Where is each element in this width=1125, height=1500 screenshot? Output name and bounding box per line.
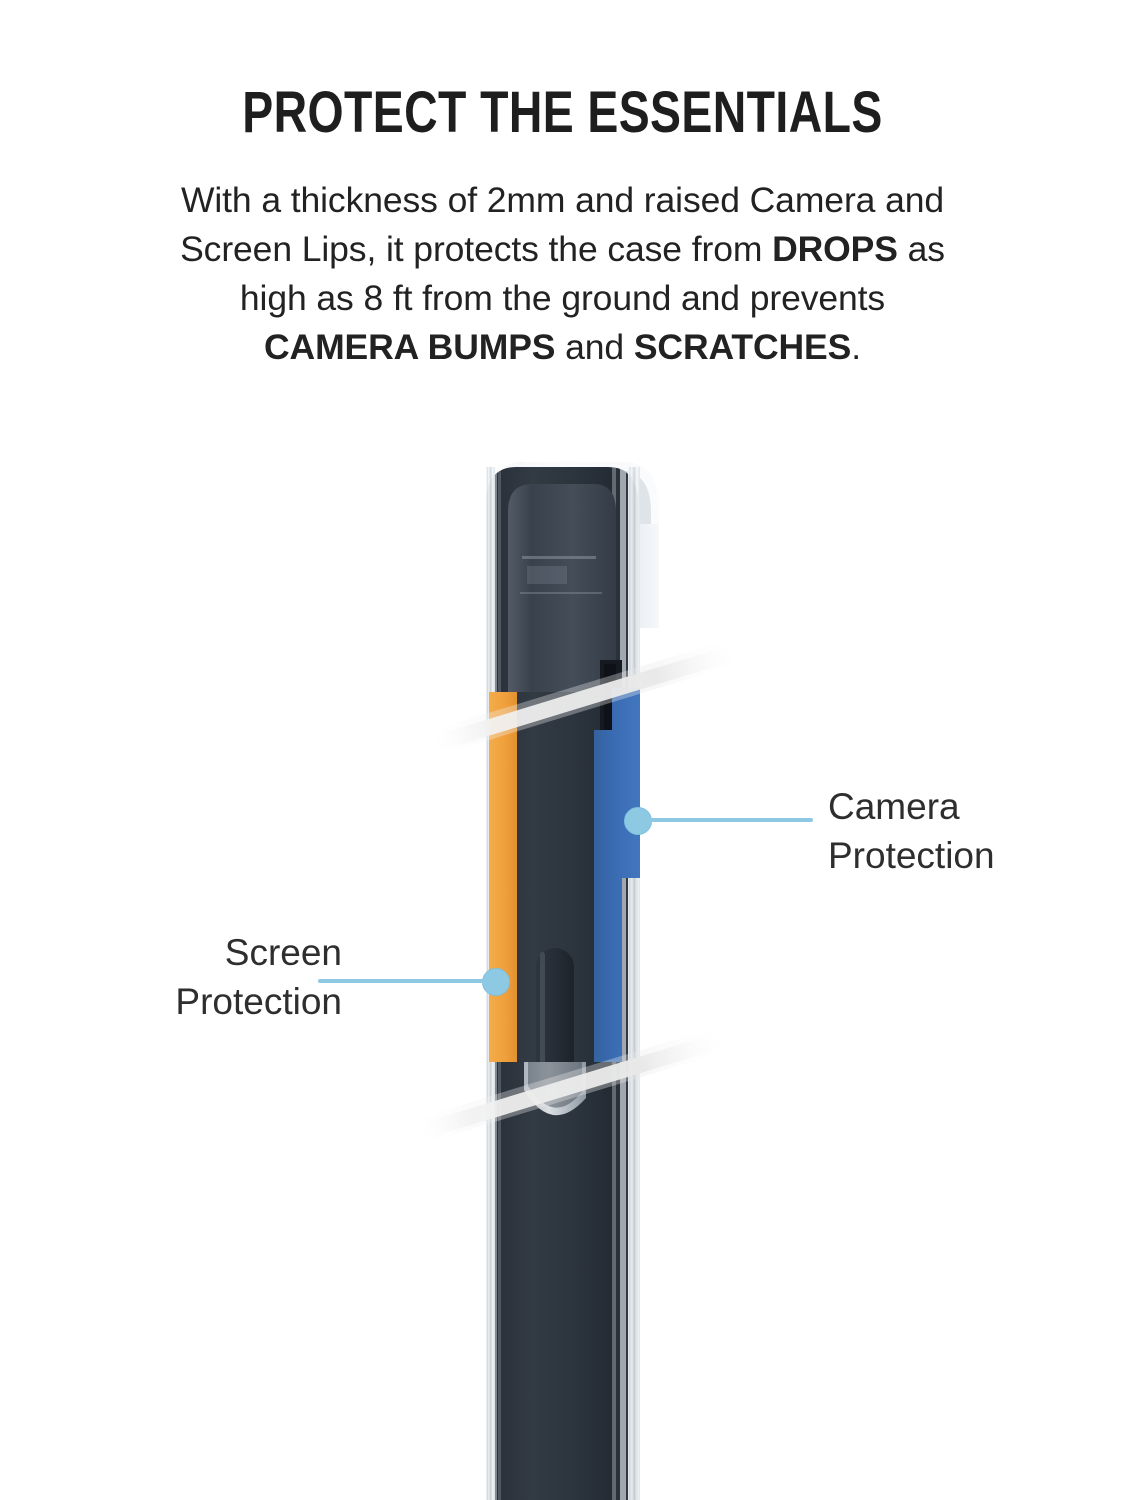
callout-camera-protection: Camera Protection <box>828 782 1088 880</box>
callout-camera-line-1: Camera <box>828 782 1088 831</box>
callout-camera-line-2: Protection <box>828 831 1088 880</box>
callout-screen-line-1: Screen <box>92 928 342 977</box>
screen-lip-stripe <box>489 692 517 1062</box>
callout-screen-line-2: Protection <box>92 977 342 1026</box>
callout-screen-protection: Screen Protection <box>92 928 342 1026</box>
product-illustration <box>0 0 1125 1500</box>
screen-glass <box>508 484 616 692</box>
camera-callout-line <box>648 818 813 822</box>
screen-callout-dot <box>482 968 510 996</box>
screen-callout-line <box>318 979 486 983</box>
infographic-canvas: PROTECT THE ESSENTIALS With a thickness … <box>0 0 1125 1500</box>
case-rail-right <box>628 467 640 1500</box>
